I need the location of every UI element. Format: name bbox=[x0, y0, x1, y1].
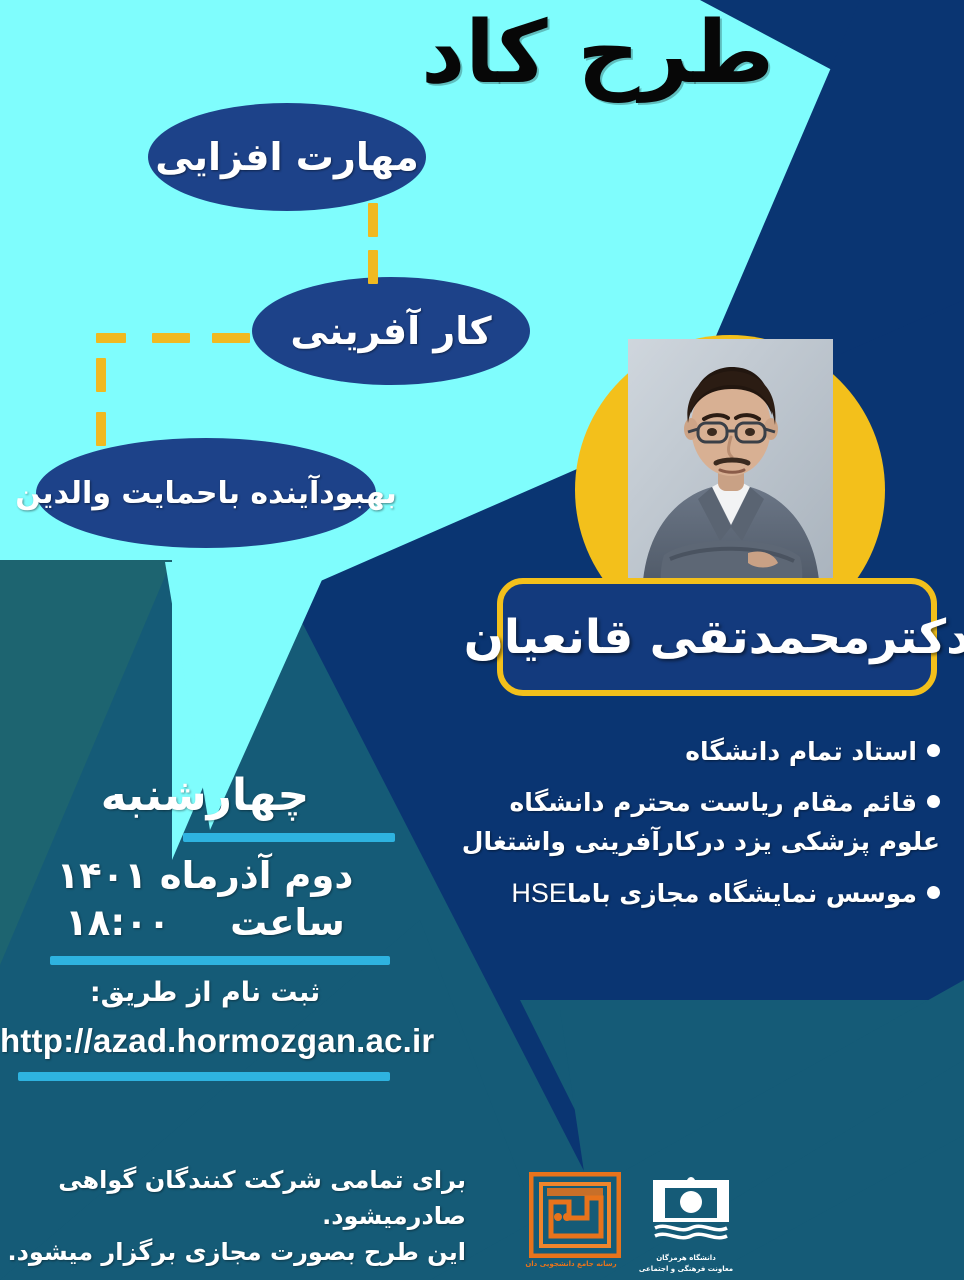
avatar bbox=[628, 339, 833, 595]
bullet-dot-icon bbox=[927, 795, 940, 808]
bullet-dot-icon bbox=[927, 886, 940, 899]
event-details-panel: چهارشنبه دوم آذرماه ۱۴۰۱ ساعت ۱۸:۰۰ ثبت … bbox=[0, 770, 410, 1093]
mahart-logo: رسانه جامع دانشجویی دان bbox=[521, 1172, 621, 1269]
speaker-credentials-list: استاد تمام دانشگاه قائم مقام ریاست محترم… bbox=[340, 735, 940, 930]
bullet-dot-icon bbox=[927, 744, 940, 757]
page-title: طرح کاد bbox=[421, 6, 774, 101]
divider-rule bbox=[50, 956, 390, 965]
mahart-logo-caption: رسانه جامع دانشجویی دان bbox=[521, 1260, 621, 1269]
event-date: دوم آذرماه ۱۴۰۱ bbox=[0, 854, 410, 897]
connector-dash-h2 bbox=[152, 333, 190, 343]
connector-dash-v3 bbox=[96, 358, 106, 392]
connector-dash-h1 bbox=[212, 333, 250, 343]
credential-text: قائم مقام ریاست محترم دانشگاه bbox=[510, 788, 917, 817]
connector-dash-v4 bbox=[96, 412, 106, 446]
credential-latin-tag: HSE bbox=[511, 876, 567, 912]
credential-text: موسس نمایشگاه مجازی باما bbox=[567, 879, 917, 908]
note-line: برای تمامی شرکت کنندگان گواهی صادرمیشود. bbox=[0, 1162, 466, 1234]
registration-label: ثبت نام از طریق: bbox=[0, 977, 410, 1008]
university-logo-caption-1: دانشگاه هرمزگان bbox=[631, 1254, 741, 1263]
event-time-row: ساعت ۱۸:۰۰ bbox=[0, 901, 410, 944]
concept-bubble-entrepreneurship: کار آفرینی bbox=[252, 277, 530, 385]
list-item: استاد تمام دانشگاه bbox=[340, 735, 940, 768]
logo-row: رسانه جامع دانشجویی دان دانشگاه هرمزگان … bbox=[513, 1172, 753, 1280]
divider-rule bbox=[183, 833, 395, 842]
hormozgan-university-logo: دانشگاه هرمزگان معاونت فرهنگی و اجتماعی bbox=[631, 1172, 741, 1275]
connector-dash-h3 bbox=[96, 333, 126, 343]
list-item: قائم مقام ریاست محترم دانشگاه علوم پزشکی… bbox=[340, 786, 940, 858]
list-item: موسس نمایشگاه مجازی باماHSE bbox=[340, 876, 940, 912]
connector-dash-v1 bbox=[368, 203, 378, 237]
speaker-name: دکترمحمدتقی قانعیان bbox=[464, 610, 964, 665]
event-notes: برای تمامی شرکت کنندگان گواهی صادرمیشود.… bbox=[0, 1162, 480, 1270]
credential-text-cont: علوم پزشکی یزد درکارآفرینی واشتغال bbox=[340, 825, 940, 858]
speaker-photo-group bbox=[575, 335, 885, 595]
concept-bubble-future: بهبودآینده باحمایت والدین bbox=[36, 438, 376, 548]
note-line: این طرح بصورت مجازی برگزار میشود. bbox=[0, 1234, 466, 1270]
event-time-label: ساعت bbox=[230, 901, 345, 944]
event-weekday: چهارشنبه bbox=[0, 770, 410, 821]
divider-rule bbox=[18, 1072, 390, 1081]
event-poster: طرح کاد مهارت افزایی کار آفرینی بهبودآین… bbox=[0, 0, 964, 1280]
credential-text: استاد تمام دانشگاه bbox=[685, 737, 917, 766]
event-time-value: ۱۸:۰۰ bbox=[65, 901, 170, 944]
registration-url[interactable]: http://azad.hormozgan.ac.ir bbox=[0, 1022, 410, 1060]
concept-bubble-skill: مهارت افزایی bbox=[148, 103, 426, 211]
university-logo-caption-2: معاونت فرهنگی و اجتماعی bbox=[631, 1265, 741, 1274]
connector-dash-v2 bbox=[368, 250, 378, 284]
speaker-name-plate: دکترمحمدتقی قانعیان bbox=[497, 578, 937, 696]
